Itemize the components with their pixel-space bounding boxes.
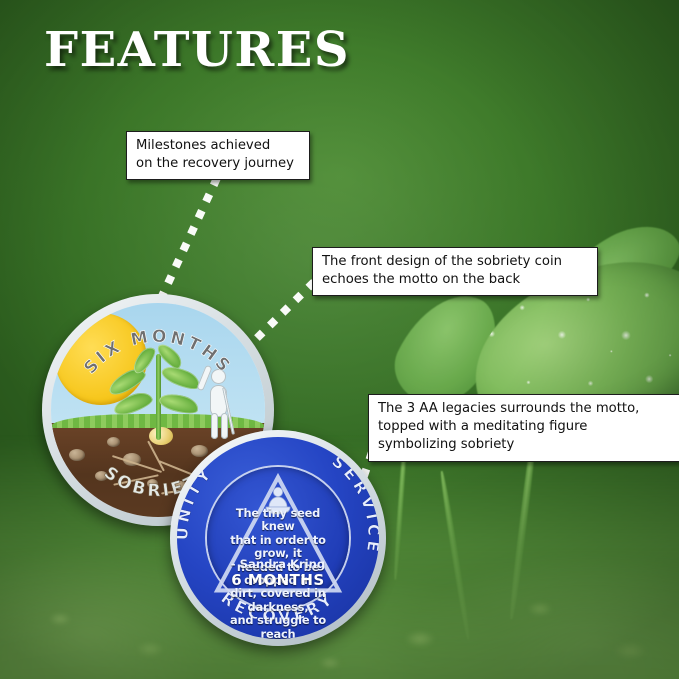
coin-back[interactable]: UNITY SERVICE RECOVERY <box>170 430 386 646</box>
pebble <box>147 479 158 488</box>
figure-leg <box>221 413 228 439</box>
pebble <box>69 449 85 461</box>
pebble <box>107 437 120 447</box>
pebble <box>81 493 93 502</box>
pebble <box>95 471 108 481</box>
figure-head <box>211 369 226 384</box>
coin-back-inner-disc: The tiny seed knew that in order to grow… <box>207 467 349 609</box>
page-title: FEATURES <box>44 22 350 78</box>
figure-leg <box>211 413 218 439</box>
feature-infographic: FEATURES <box>0 0 679 679</box>
callout-legacies: The 3 AA legacies surrounds the motto, t… <box>368 394 679 462</box>
coin-duration: 6 MONTHS <box>230 571 327 589</box>
callout-milestones: Milestones achieved on the recovery jour… <box>126 131 310 180</box>
sun-icon <box>55 313 147 405</box>
pebble <box>191 445 208 457</box>
coin-back-face: UNITY SERVICE RECOVERY <box>177 437 379 639</box>
coin-motto-author: - Sandra Kring <box>207 557 349 571</box>
callout-front-design: The front design of the sobriety coin ec… <box>312 247 598 296</box>
